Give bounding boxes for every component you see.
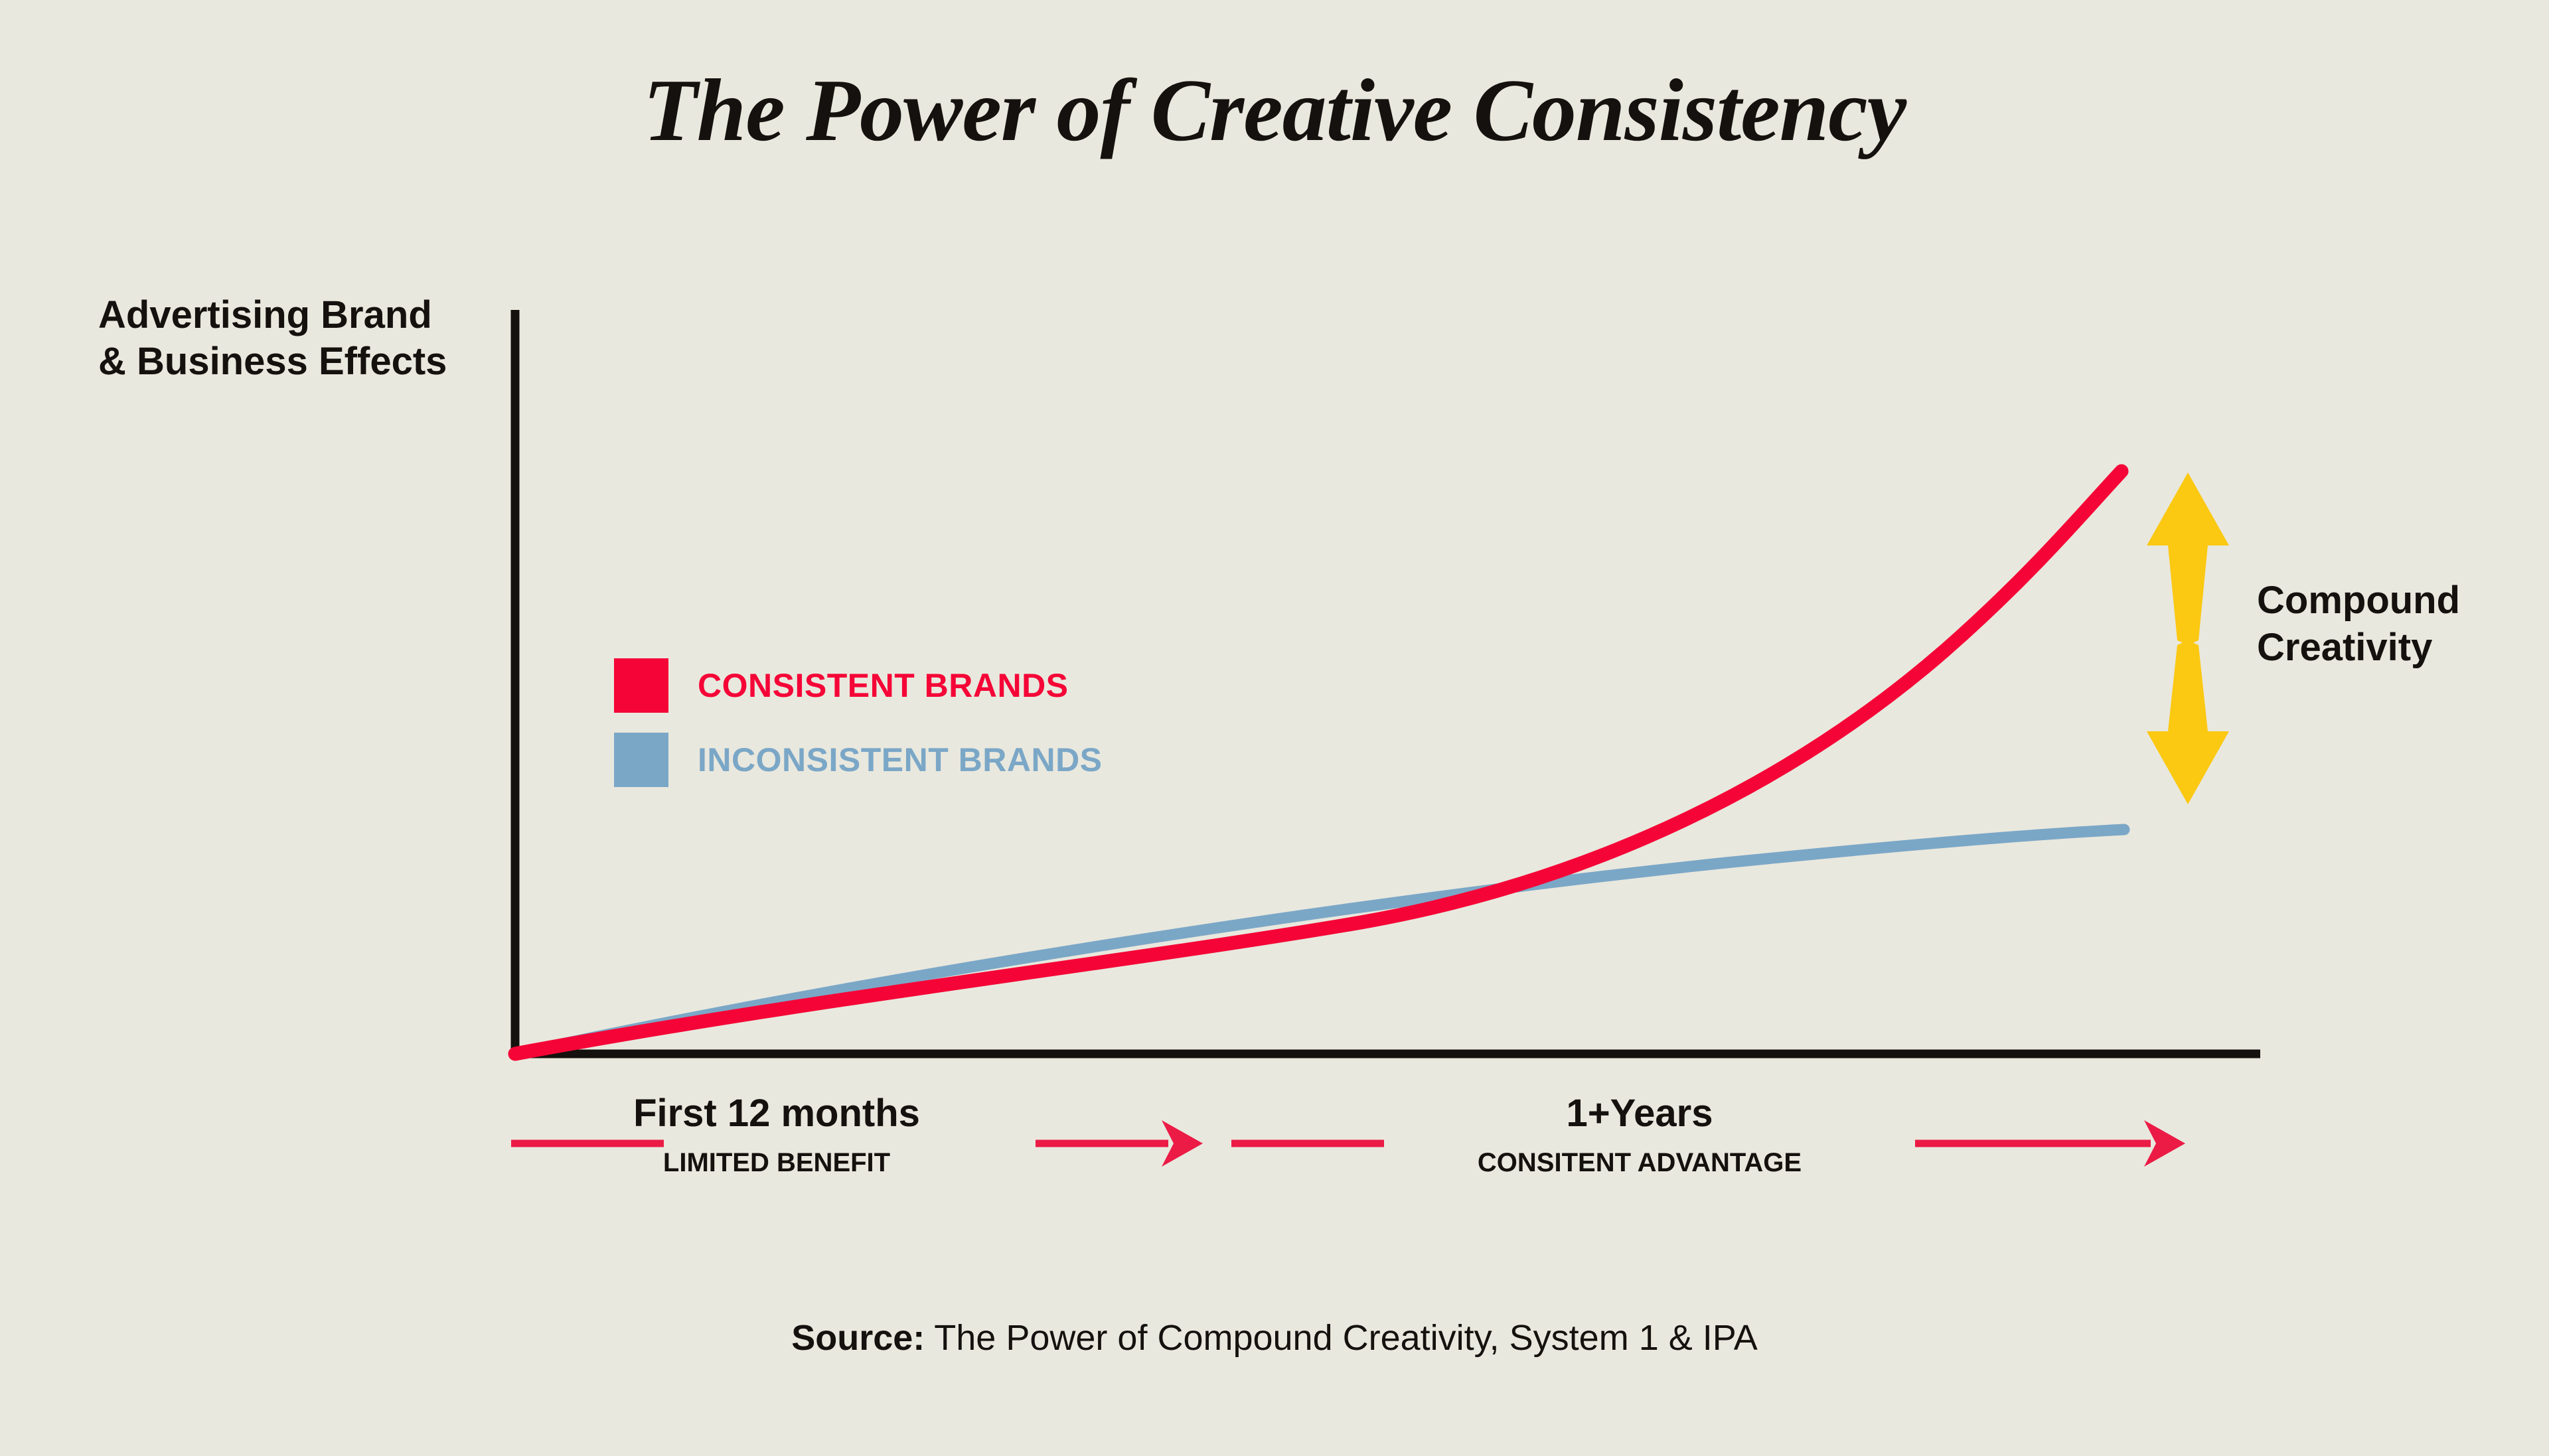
legend-label-inconsistent-brands: INCONSISTENT BRANDS [698,741,1103,779]
phase-label-one-plus-years: 1+Years CONSITENT ADVANTAGE [1447,1094,1832,1177]
phase-2-title: 1+Years [1447,1094,1832,1134]
series-line-inconsistent-brands [515,830,2124,1054]
phase-1-title: First 12 months [584,1094,969,1134]
plot-area [0,0,2549,1456]
source-attribution: Source: The Power of Compound Creativity… [0,1317,2549,1358]
chart-canvas: The Power of Creative Consistency Advert… [0,0,2549,1456]
compound-creativity-line-1: Compound [2257,577,2536,624]
phase-2-subtitle: CONSITENT ADVANTAGE [1447,1149,1832,1177]
page-title: The Power of Creative Consistency [0,64,2549,157]
y-axis-label: Advertising Brand & Business Effects [98,292,497,384]
legend-item-inconsistent-brands[interactable]: INCONSISTENT BRANDS [614,731,1103,788]
legend-label-consistent-brands: CONSISTENT BRANDS [698,666,1069,705]
phase-label-first-12-months: First 12 months LIMITED BENEFIT [584,1094,969,1177]
compound-creativity-line-2: Creativity [2257,624,2536,672]
double-headed-vertical-arrow-icon [2147,473,2229,804]
source-text: The Power of Compound Creativity, System… [925,1318,1758,1358]
compound-creativity-annotation: Compound Creativity [2257,577,2536,672]
source-label: Source: [791,1318,925,1358]
y-axis-label-line-1: Advertising Brand [98,292,497,338]
y-axis-label-line-2: & Business Effects [98,338,497,385]
phase-1-subtitle: LIMITED BENEFIT [584,1149,969,1177]
chart-legend: CONSISTENT BRANDS INCONSISTENT BRANDS [614,657,1103,806]
legend-item-consistent-brands[interactable]: CONSISTENT BRANDS [614,657,1103,714]
legend-swatch-consistent-brands [614,658,668,713]
legend-swatch-inconsistent-brands [614,733,668,787]
